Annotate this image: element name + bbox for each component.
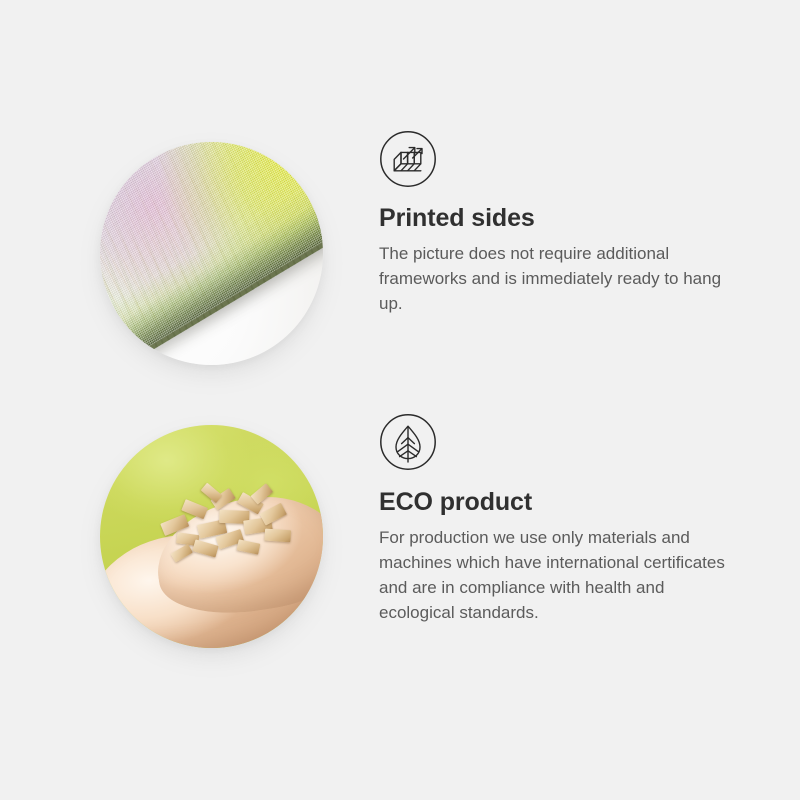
feature-block-printed-sides: Printed sides The picture does not requi… [0,130,800,380]
wood-chips-photo-inner [100,425,323,648]
feature-description-printed-sides: The picture does not require additional … [379,241,744,316]
feature-block-eco-product: ECO product For production we use only m… [0,413,800,663]
canvas-print-corner-photo [100,142,323,365]
wood-chip-pile [155,480,297,573]
printed-sides-text-column: Printed sides The picture does not requi… [379,130,744,316]
product-feature-page: Printed sides The picture does not requi… [0,0,800,800]
eco-product-text-column: ECO product For production we use only m… [379,413,744,625]
feature-title-printed-sides: Printed sides [379,204,744,233]
leaf-icon [379,413,437,471]
wood-chips-in-hands-photo [100,425,323,648]
printed-sides-icon [379,130,437,188]
canvas-print-photo-inner [100,142,323,365]
feature-title-eco-product: ECO product [379,488,744,517]
feature-description-eco-product: For production we use only materials and… [379,525,744,625]
